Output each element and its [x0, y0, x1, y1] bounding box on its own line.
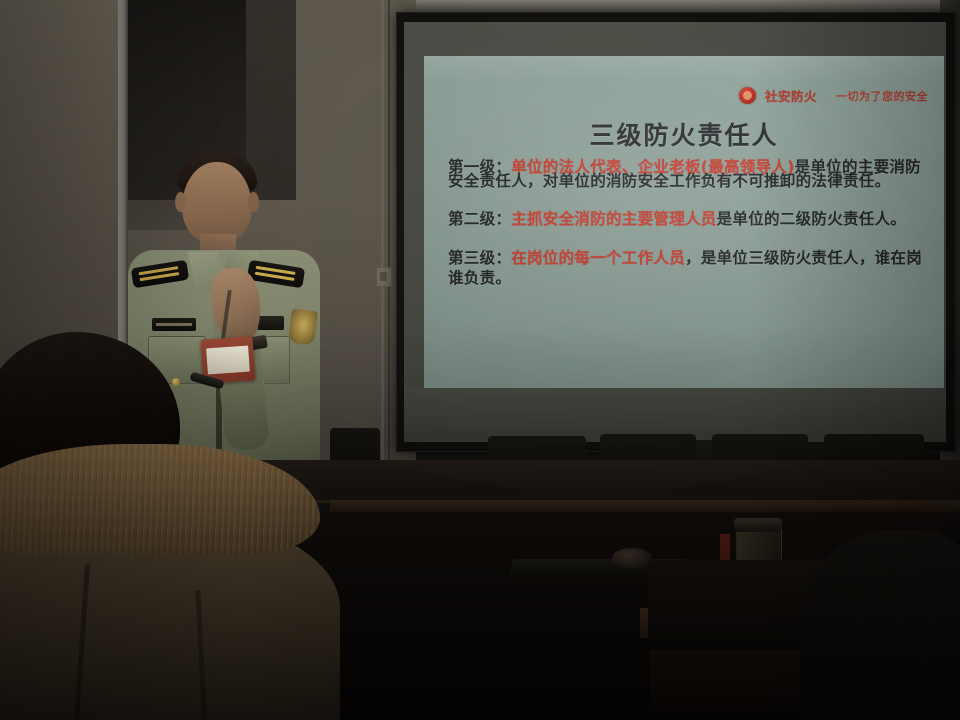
level-3-label: 第三级：: [448, 249, 511, 267]
slide-paragraph-level-2: 第二级：主抓安全消防的主要管理人员是单位的二级防火责任人。: [448, 209, 928, 229]
wall-outlet-icon: [376, 267, 392, 287]
presenter-ear-left: [175, 192, 186, 212]
level-2-label: 第二级：: [448, 210, 511, 228]
projected-slide: 社安防火 一切为了您的安全 三级防火责任人 第一级：单位的法人代表、企业老板(最…: [424, 56, 944, 388]
presenter-head: [182, 162, 252, 244]
slide-title: 三级防火责任人: [424, 116, 944, 152]
audience-front-left: [0, 332, 360, 720]
brand-slogan: 一切为了您的安全: [836, 88, 928, 104]
ceiling-strip: [380, 0, 960, 12]
slide-paragraph-level-3: 第三级：在岗位的每一个工作人员，是单位三级防火责任人，谁在岗谁负责。: [448, 248, 928, 288]
audience-fur-collar: [0, 444, 320, 554]
presenter-name-tag-left: [152, 318, 196, 331]
presentation-room-photo: 社安防火 一切为了您的安全 三级防火责任人 第一级：单位的法人代表、企业老板(最…: [0, 0, 960, 720]
fire-shield-badge-icon: [739, 87, 756, 104]
brand-name: 社安防火: [765, 86, 817, 105]
wall-seam-shadow: [388, 0, 390, 470]
presenter-ear-right: [248, 192, 259, 212]
slide-paragraph-level-1: 第一级：单位的法人代表、企业老板(最高领导人)是单位的主要消防安全责任人，对单位…: [448, 160, 928, 188]
computer-mouse: [612, 548, 652, 568]
slide-body: 第一级：单位的法人代表、企业老板(最高领导人)是单位的主要消防安全责任人，对单位…: [448, 160, 928, 307]
slide-brand-header: 社安防火 一切为了您的安全: [739, 86, 928, 105]
level-2-highlight: 主抓安全消防的主要管理人员: [511, 210, 716, 228]
level-2-rest: 是单位的二级防火责任人。: [717, 210, 907, 228]
level-3-highlight: 在岗位的每一个工作人员: [511, 249, 685, 267]
slide-top-glow: [424, 56, 944, 82]
wall-seam: [381, 0, 384, 470]
tea-jar-lid: [734, 518, 782, 532]
